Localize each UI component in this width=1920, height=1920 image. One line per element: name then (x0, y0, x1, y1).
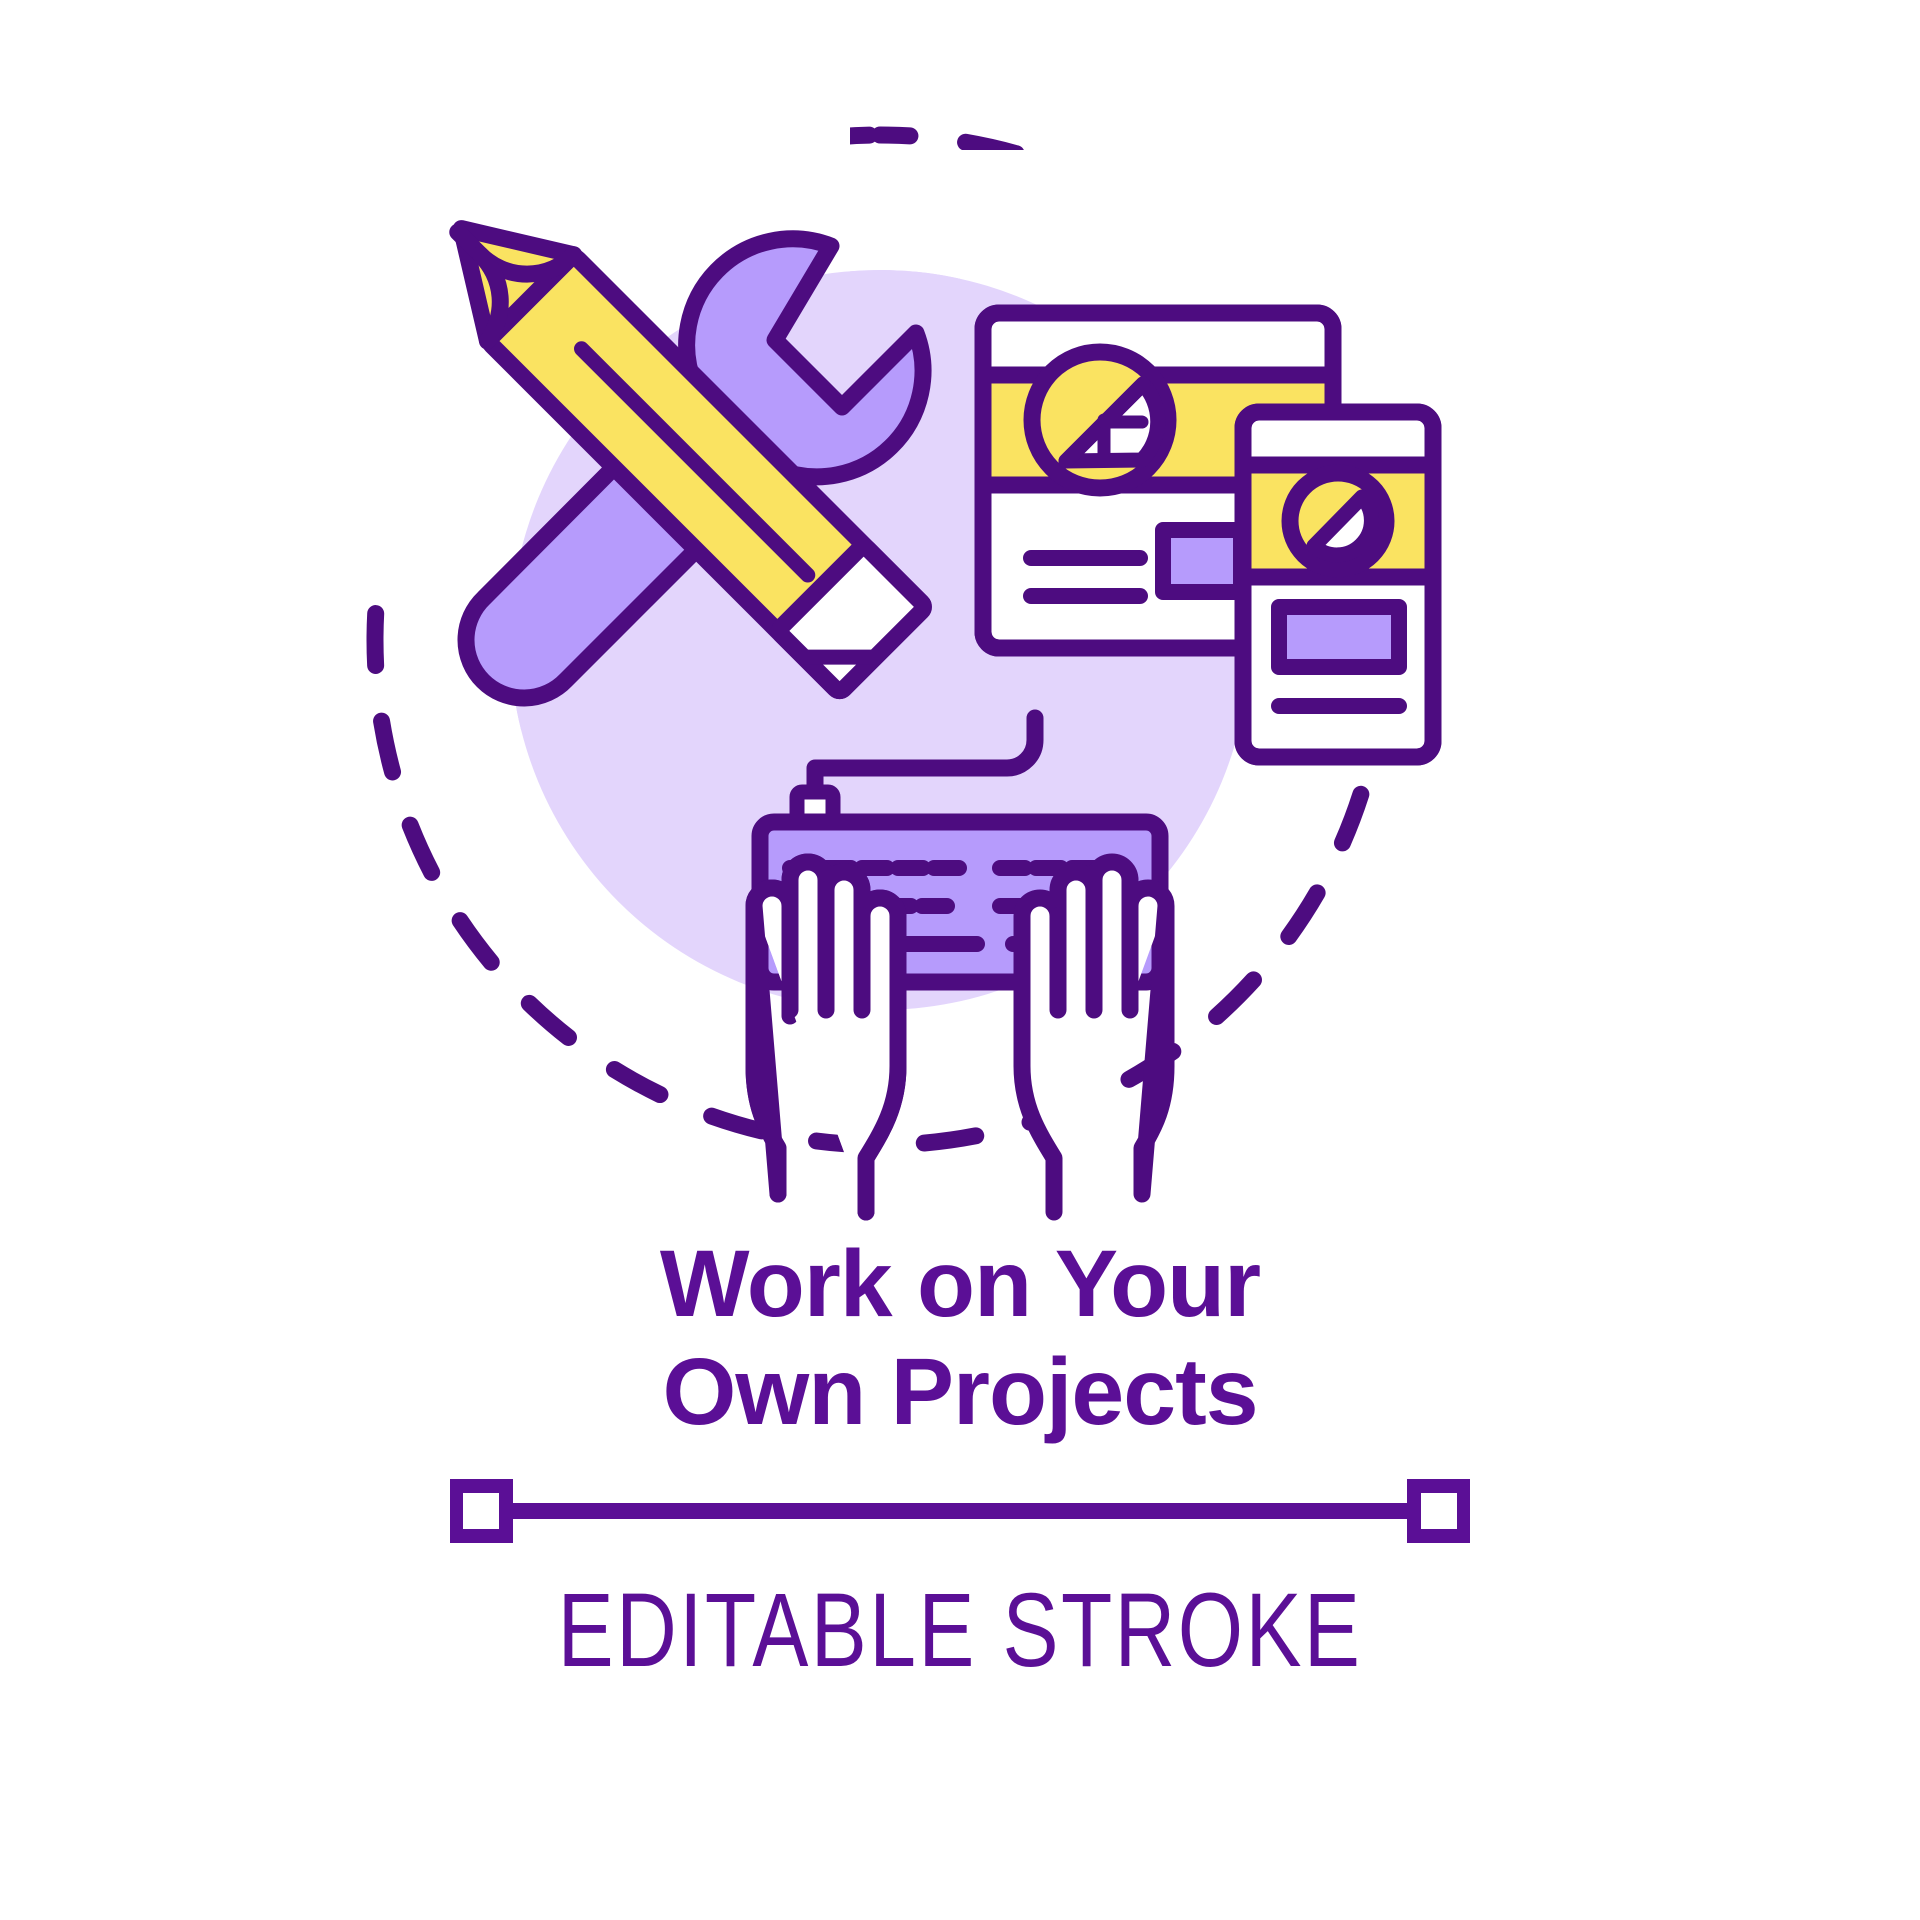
concept-icon-page: Work on Your Own Projects EDITABLE STROK… (0, 0, 1920, 1920)
divider-svg (450, 1476, 1470, 1546)
divider-handle-right[interactable] (1414, 1486, 1464, 1536)
phone-mockup (1243, 412, 1433, 757)
caption-block: Work on Your Own Projects EDITABLE STROK… (0, 1230, 1920, 1686)
page-title-line-2: Own Projects (0, 1338, 1920, 1446)
concept-illustration-svg (0, 0, 1920, 1230)
editable-stroke-label: EDITABLE STROKE (192, 1576, 1728, 1686)
divider-handle-left[interactable] (456, 1486, 506, 1536)
illustration-area (0, 0, 1920, 1230)
page-title-line-1: Work on Your (0, 1230, 1920, 1338)
editable-stroke-divider (0, 1446, 1920, 1576)
